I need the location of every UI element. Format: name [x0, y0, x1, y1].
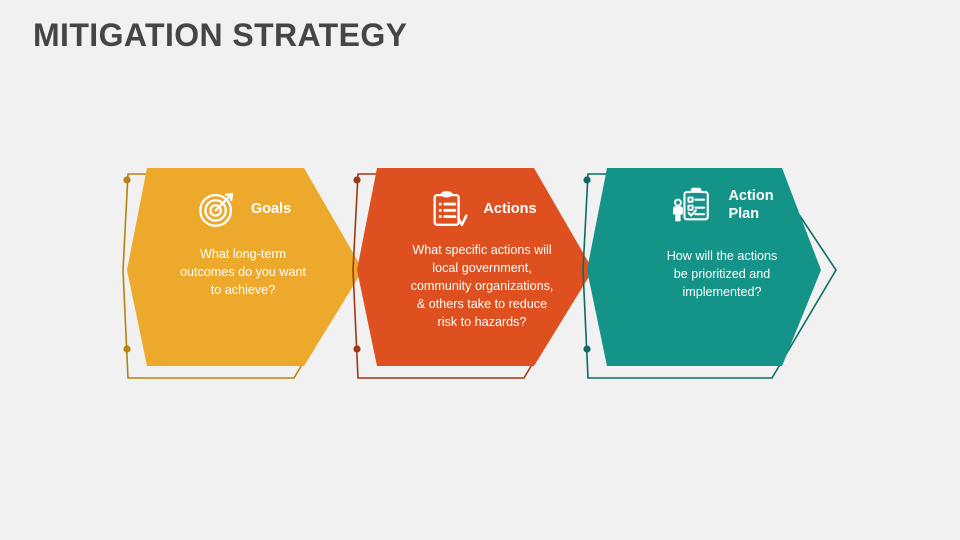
stage-body-actions: What specific actions will local governm… — [380, 242, 584, 331]
stage-content-goals: Goals What long-term outcomes do you wan… — [148, 186, 338, 300]
stage-header-actions: Actions — [380, 186, 584, 232]
stage-outline-dot-top-action-plan — [583, 176, 590, 183]
stage-title-actions: Actions — [483, 200, 536, 218]
stage-content-action-plan: Action Plan How will the actions be prio… — [624, 182, 820, 302]
stage-header-goals: Goals — [148, 186, 338, 232]
stage-body-goals: What long-term outcomes do you want to a… — [148, 246, 338, 300]
stage-title-action-plan: Action Plan — [728, 187, 773, 223]
stage-title-goals: Goals — [251, 200, 291, 218]
stage-header-action-plan: Action Plan — [624, 182, 820, 228]
target-icon — [195, 186, 241, 232]
stage-outline-dot-bottom-action-plan — [583, 345, 590, 352]
stage-content-actions: Actions What specific actions will local… — [380, 186, 584, 331]
clipboard-check-icon — [427, 186, 473, 232]
person-clipboard-icon — [670, 182, 716, 228]
slide-canvas: MITIGATION STRATEGY — [0, 0, 960, 540]
stage-group: Goals What long-term outcomes do you wan… — [0, 0, 960, 540]
stage-body-action-plan: How will the actions be prioritized and … — [624, 248, 820, 302]
